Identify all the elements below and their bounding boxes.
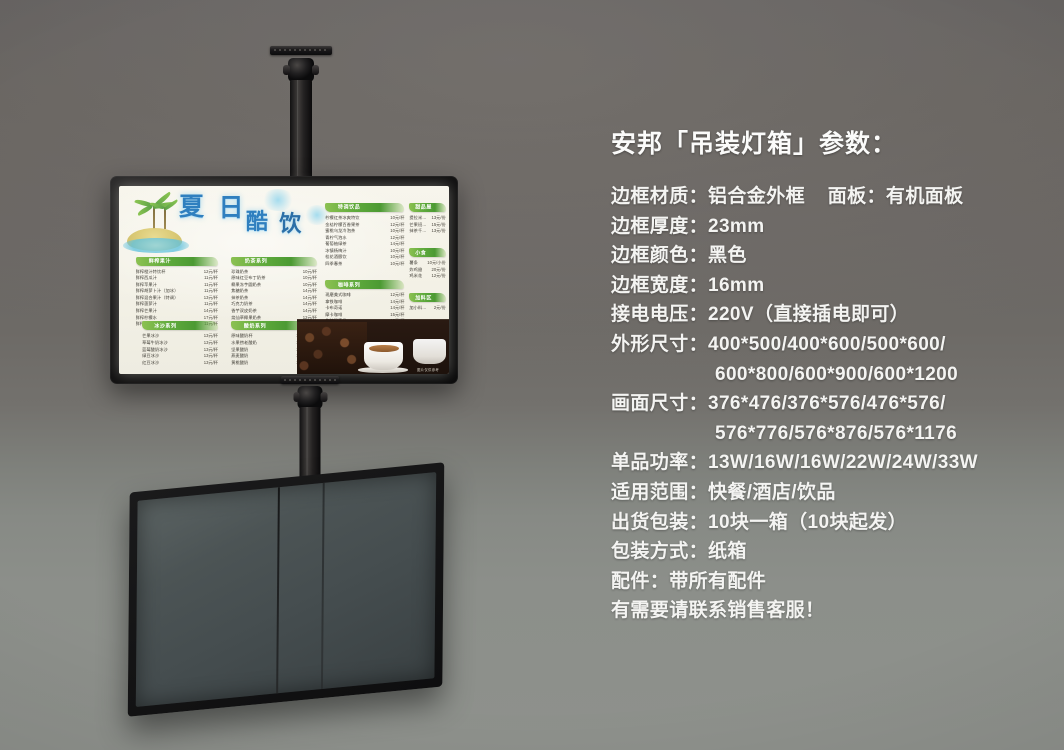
item-name: 鲜榨苹果汁 bbox=[136, 282, 157, 289]
spec-line: 有需要请联系销售客服！ bbox=[611, 596, 1041, 626]
item-name: 冰镇杨梅汁 bbox=[325, 248, 346, 255]
spec-panel: 安邦「吊装灯箱」参数： 边框材质：铝合金外框 面板：有机面板 边框厚度：23mm… bbox=[611, 124, 1041, 626]
item-price: 13元/杯 bbox=[200, 340, 218, 347]
item-name: 燕麦酸奶 bbox=[231, 353, 248, 360]
section-title: 小食 bbox=[415, 249, 426, 256]
item-name: 水果捞老酸奶 bbox=[231, 340, 257, 347]
spec-line: 576*776/576*876/576*1176 bbox=[611, 419, 1041, 449]
menu-row: 红豆冰沙13元/杯 bbox=[142, 360, 218, 367]
item-price: 11元/杯 bbox=[200, 288, 218, 295]
coffee-cup-front bbox=[364, 342, 403, 371]
item-name: 香芋双皮奶茶 bbox=[231, 308, 257, 315]
item-name: 鲜榨橙汁特饮杯 bbox=[136, 269, 166, 276]
item-name: 抹茶千层蛋糕 bbox=[409, 228, 427, 235]
section-rows: 加小料任选2元/份 bbox=[409, 305, 445, 312]
item-price: 13元/份 bbox=[427, 215, 445, 222]
swivel-knuckle-icon bbox=[298, 386, 323, 409]
menu-row: 鸡米花12元/份 bbox=[409, 273, 445, 280]
section-rows: 柠檬红茶冰爽特饮10元/杯 金桔柠檬百香果茶12元/杯 蜜桃乌龙冷泡茶10元/杯… bbox=[325, 215, 404, 268]
spec-line: 出货包装：10块一箱（10块起发） bbox=[611, 508, 1041, 538]
item-name: 烧仙草椰果奶茶 bbox=[231, 315, 261, 322]
spec-line: 包装方式：纸箱 bbox=[611, 537, 1041, 567]
item-name: 鲜榨胡萝卜汁（加冰） bbox=[136, 288, 179, 295]
menu-headline: 夏 日 酷 饮 bbox=[176, 192, 328, 249]
menu-row: 鲜榨西瓜汁11元/杯 bbox=[136, 275, 219, 282]
item-name: 蜜桃乌龙冷泡茶 bbox=[325, 228, 355, 235]
swivel-knuckle-icon bbox=[288, 58, 314, 82]
pole-seam bbox=[297, 80, 298, 188]
splash-decor-1 bbox=[261, 189, 295, 211]
menu-row: 薯条10元/小份 bbox=[409, 260, 445, 267]
item-name: 黄桃酸奶 bbox=[231, 360, 248, 367]
section-rows: 提拉米苏小蛋糕13元/份 芒果班戟双拼甜品15元/份 抹茶千层蛋糕13元/份 bbox=[409, 215, 445, 235]
back-panel-frame bbox=[128, 462, 445, 717]
menu-headline-block: 夏 日 酷 饮 bbox=[121, 187, 332, 255]
item-name: 原味酸奶杯 bbox=[231, 333, 252, 340]
item-price: 10元/小份 bbox=[423, 260, 445, 267]
section-title: 奶茶系列 bbox=[245, 258, 267, 265]
item-name: 加小料任选 bbox=[409, 305, 429, 312]
item-name: 焦糖奶茶 bbox=[231, 288, 248, 295]
item-name: 鲜榨菠萝汁 bbox=[136, 301, 157, 308]
menu-row: 蜜桃乌龙冷泡茶10元/杯 bbox=[325, 228, 404, 235]
spec-line: 画面尺寸：376*476/376*576/476*576/ bbox=[611, 389, 1041, 419]
ceiling-plate-icon bbox=[270, 46, 332, 55]
item-name: 蓝莓酸奶冰沙 bbox=[142, 347, 168, 354]
item-price: 14元/杯 bbox=[299, 288, 317, 295]
section-banner: 奶茶系列 bbox=[231, 257, 317, 266]
item-name: 炸鸡翅 bbox=[409, 267, 422, 274]
item-price: 13元/杯 bbox=[200, 353, 218, 360]
item-price: 2元/份 bbox=[430, 305, 446, 312]
item-price: 14元/杯 bbox=[386, 241, 404, 248]
back-panel-face bbox=[136, 472, 436, 707]
section-rows: 芒果冰沙13元/杯 草莓牛奶冰沙13元/杯 蓝莓酸奶冰沙13元/杯 绿豆冰沙13… bbox=[142, 333, 218, 366]
section-banner: 冰沙系列 bbox=[142, 321, 218, 330]
item-name: 薯条 bbox=[409, 260, 418, 267]
menu-row: 葡萄柚绿茶14元/杯 bbox=[325, 241, 404, 248]
spec-line: 适用范围：快餐/酒店/饮品 bbox=[611, 478, 1041, 508]
section-title: 加料区 bbox=[415, 294, 432, 301]
coffee-cup-back bbox=[413, 339, 446, 364]
item-name: 提拉米苏小蛋糕 bbox=[409, 215, 427, 222]
menu-section-2: 冰沙系列 芒果冰沙13元/杯 草莓牛奶冰沙13元/杯 蓝莓酸奶冰沙13元/杯 绿… bbox=[142, 321, 218, 366]
menu-row: 现磨美式咖啡12元/杯 bbox=[325, 292, 404, 299]
item-name: 鲜榨西瓜汁 bbox=[136, 275, 157, 282]
menu-row: 抹茶千层蛋糕13元/份 bbox=[409, 228, 445, 235]
item-price: 10元/杯 bbox=[386, 261, 404, 268]
coffee-photo bbox=[297, 314, 449, 374]
menu-row: 绿豆冰沙13元/杯 bbox=[142, 353, 218, 360]
spec-line: 单品功率：13W/16W/16W/22W/24W/33W bbox=[611, 448, 1041, 478]
menu-board: 夏 日 酷 饮 鲜榨果汁 鲜榨橙汁特饮杯12元/杯 鲜榨西瓜汁11元/杯 鲜榨苹… bbox=[119, 186, 449, 374]
menu-footer-note: 图片仅供参考 bbox=[417, 367, 439, 372]
menu-section-7: 小食 薯条10元/小份 炸鸡翅20元/份 鸡米花12元/份 bbox=[409, 248, 445, 280]
spec-title: 安邦「吊装灯箱」参数： bbox=[611, 124, 1041, 160]
spec-line: 边框材质：铝合金外框 面板：有机面板 bbox=[611, 182, 1041, 212]
item-price: 12元/杯 bbox=[386, 292, 404, 299]
item-name: 芒果冰沙 bbox=[142, 333, 159, 340]
item-price: 13元/杯 bbox=[200, 360, 218, 367]
item-name: 卡布奇诺 bbox=[325, 305, 342, 312]
menu-section-4: 特调饮品 柠檬红茶冰爽特饮10元/杯 金桔柠檬百香果茶12元/杯 蜜桃乌龙冷泡茶… bbox=[325, 203, 404, 268]
menu-section-6: 甜品屋 提拉米苏小蛋糕13元/份 芒果班戟双拼甜品15元/份 抹茶千层蛋糕13元… bbox=[409, 203, 445, 235]
menu-section-8: 加料区 加小料任选2元/份 bbox=[409, 293, 445, 312]
item-name: 绿豆冰沙 bbox=[142, 353, 159, 360]
section-banner: 咖啡系列 bbox=[325, 280, 404, 289]
product-photo-stage: 夏 日 酷 饮 鲜榨果汁 鲜榨橙汁特饮杯12元/杯 鲜榨西瓜汁11元/杯 鲜榨苹… bbox=[0, 0, 1064, 750]
item-name: 椰果冻芋圆奶茶 bbox=[231, 282, 261, 289]
section-banner: 小食 bbox=[409, 248, 445, 257]
spec-line: 外形尺寸：400*500/400*600/500*600/ bbox=[611, 330, 1041, 360]
item-price: 12元/份 bbox=[427, 273, 445, 280]
menu-row: 草莓牛奶冰沙13元/杯 bbox=[142, 340, 218, 347]
item-name: 坚果酸奶 bbox=[231, 347, 248, 354]
menu-row: 加小料任选2元/份 bbox=[409, 305, 445, 312]
section-title: 冰沙系列 bbox=[154, 322, 176, 329]
item-price: 13元/杯 bbox=[200, 333, 218, 340]
item-name: 青柠气泡水 bbox=[325, 235, 346, 242]
ceiling-plate-icon bbox=[281, 376, 339, 384]
item-price: 10元/杯 bbox=[386, 215, 404, 222]
menu-row: 焦糖奶茶14元/杯 bbox=[231, 288, 317, 295]
item-name: 现磨美式咖啡 bbox=[325, 292, 351, 299]
menu-row: 芒果冰沙13元/杯 bbox=[142, 333, 218, 340]
item-price: 14元/杯 bbox=[386, 305, 404, 312]
headline-char-1: 夏 bbox=[179, 194, 204, 219]
headline-char-2: 日 bbox=[218, 195, 243, 220]
menu-row: 卡布奇诺14元/杯 bbox=[325, 305, 404, 312]
power-cable bbox=[150, 472, 324, 608]
menu-row: 原味红豆布丁奶茶10元/杯 bbox=[231, 275, 317, 282]
item-name: 桂花酒酿饮 bbox=[325, 254, 346, 261]
menu-row: 鲜榨芒果汁14元/杯 bbox=[136, 308, 219, 315]
item-name: 草莓牛奶冰沙 bbox=[142, 340, 168, 347]
spec-line: 边框宽度：16mm bbox=[611, 271, 1041, 301]
ceiling-mount-upper bbox=[246, 46, 356, 186]
section-banner: 甜品屋 bbox=[409, 203, 445, 212]
spec-line: 配件：带所有配件 bbox=[611, 567, 1041, 597]
item-price: 14元/杯 bbox=[200, 308, 218, 315]
section-title: 甜品屋 bbox=[415, 204, 432, 211]
drop-pole bbox=[290, 80, 312, 188]
item-name: 抹茶奶茶 bbox=[231, 295, 248, 302]
item-name: 鲜榨混合果汁（特调） bbox=[136, 295, 179, 302]
menu-row: 鲜榨胡萝卜汁（加冰）11元/杯 bbox=[136, 288, 219, 295]
panel-seam bbox=[321, 483, 325, 689]
section-banner: 鲜榨果汁 bbox=[136, 257, 219, 266]
lit-lightbox: 夏 日 酷 饮 鲜榨果汁 鲜榨橙汁特饮杯12元/杯 鲜榨西瓜汁11元/杯 鲜榨苹… bbox=[110, 176, 458, 384]
section-title: 鲜榨果汁 bbox=[149, 258, 171, 265]
menu-row: 柠檬红茶冰爽特饮10元/杯 bbox=[325, 215, 404, 222]
headline-char-3: 酷 bbox=[246, 212, 268, 234]
item-name: 拿铁咖啡 bbox=[325, 299, 342, 306]
spec-line: 接电电压：220V（直接插电即可） bbox=[611, 300, 1041, 330]
menu-row: 四季春茶10元/杯 bbox=[325, 261, 404, 268]
menu-section-0: 鲜榨果汁 鲜榨橙汁特饮杯12元/杯 鲜榨西瓜汁11元/杯 鲜榨苹果汁11元/杯 … bbox=[136, 257, 219, 328]
section-title: 咖啡系列 bbox=[338, 281, 360, 288]
section-rows: 薯条10元/小份 炸鸡翅20元/份 鸡米花12元/份 bbox=[409, 260, 445, 280]
spec-line: 边框厚度：23mm bbox=[611, 212, 1041, 242]
item-price: 13元/份 bbox=[427, 228, 445, 235]
menu-row: 提拉米苏小蛋糕13元/份 bbox=[409, 215, 445, 222]
spec-line: 边框颜色：黑色 bbox=[611, 241, 1041, 271]
item-price: 10元/杯 bbox=[386, 228, 404, 235]
item-name: 鲜榨柠檬水 bbox=[136, 315, 157, 322]
item-name: 珍珠奶茶 bbox=[231, 269, 248, 276]
back-panel-unlit bbox=[128, 478, 428, 683]
section-title: 特调饮品 bbox=[338, 204, 360, 211]
item-price: 10元/杯 bbox=[299, 275, 317, 282]
item-name: 鸡米花 bbox=[409, 273, 422, 280]
item-name: 鲜榨芒果汁 bbox=[136, 308, 157, 315]
item-name: 葡萄柚绿茶 bbox=[325, 241, 346, 248]
item-name: 柠檬红茶冰爽特饮 bbox=[325, 215, 359, 222]
item-name: 金桔柠檬百香果茶 bbox=[325, 222, 359, 229]
section-title: 酸奶系列 bbox=[244, 322, 266, 329]
section-banner: 特调饮品 bbox=[325, 203, 404, 212]
section-rows: 鲜榨橙汁特饮杯12元/杯 鲜榨西瓜汁11元/杯 鲜榨苹果汁11元/杯 鲜榨胡萝卜… bbox=[136, 269, 219, 328]
item-name: 原味红豆布丁奶茶 bbox=[231, 275, 265, 282]
item-name: 红豆冰沙 bbox=[142, 360, 159, 367]
item-name: 四季春茶 bbox=[325, 261, 342, 268]
item-name: 巧克力奶茶 bbox=[231, 301, 252, 308]
spec-line: 600*800/600*900/600*1200 bbox=[611, 360, 1041, 390]
headline-char-4: 饮 bbox=[279, 214, 301, 236]
section-banner: 加料区 bbox=[409, 293, 445, 302]
item-price: 11元/杯 bbox=[200, 275, 218, 282]
item-name: 芒果班戟双拼甜品 bbox=[409, 222, 427, 229]
coffee-beans-image bbox=[297, 322, 367, 374]
